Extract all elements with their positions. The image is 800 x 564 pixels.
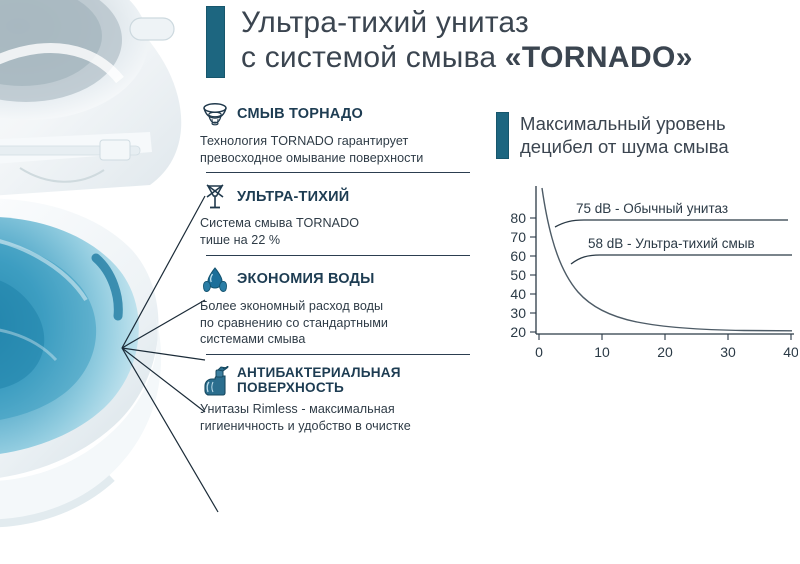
feature-body: Более экономный расход воды по сравнению… (200, 298, 468, 348)
y-tick-40: 40 (510, 286, 526, 302)
x-tick-10: 10 (594, 344, 610, 360)
feature-antibacterial[interactable]: АНТИБАКТЕРИАЛЬНАЯ ПОВЕРХНОСТЬ Унитазы Ri… (200, 355, 468, 441)
chart-heading-text: Максимальный уровень децибел от шума смы… (520, 112, 729, 159)
title-brand: «TORNADO» (505, 41, 693, 74)
y-tick-60: 60 (510, 248, 526, 264)
feature-tornado-flush[interactable]: СМЫВ ТОРНАДО Технология TORNADO гарантир… (200, 100, 468, 173)
feature-title: АНТИБАКТЕРИАЛЬНАЯ ПОВЕРХНОСТЬ (237, 366, 401, 395)
annotation-58db-label: 58 dB - Ультра-тихий смыв (588, 236, 755, 251)
chart-accent-bar (496, 112, 509, 159)
title-line-2-prefix: с системой смыва (241, 41, 505, 74)
y-tick-20: 20 (510, 324, 526, 340)
feature-water-saving[interactable]: ЭКОНОМИЯ ВОДЫ Более экономный расход вод… (200, 256, 468, 355)
spray-bottle-icon (200, 366, 230, 396)
feature-body: Унитазы Rimless - максимальная гигиеничн… (200, 401, 468, 434)
feature-title: ЭКОНОМИЯ ВОДЫ (237, 272, 374, 288)
title-line-1: Ультра-тихий унитаз (241, 6, 693, 41)
y-tick-50: 50 (510, 267, 526, 283)
y-tick-70: 70 (510, 229, 526, 245)
infographic-page: Ультра-тихий унитаз с системой смыва «TO… (0, 0, 800, 564)
tornado-flush-icon (200, 100, 230, 130)
feature-list: СМЫВ ТОРНАДО Технология TORNADO гарантир… (200, 100, 468, 442)
toilet-bowl-photo (0, 0, 230, 564)
feature-title: УЛЬТРА-ТИХИЙ (237, 190, 349, 206)
x-tick-20: 20 (657, 344, 673, 360)
x-tick-30: 30 (720, 344, 736, 360)
noise-decay-chart: 80 70 60 50 40 30 20 0 10 20 30 40 75 d (492, 182, 798, 368)
water-drop-hands-icon (200, 265, 230, 295)
page-title: Ультра-тихий унитаз с системой смыва «TO… (206, 6, 693, 78)
feature-ultra-quiet[interactable]: УЛЬТРА-ТИХИЙ Система смыва TORNADO тише … (200, 173, 468, 255)
feature-body: Система смыва TORNADO тише на 22 % (200, 215, 468, 248)
x-tick-40: 40 (783, 344, 798, 360)
y-tick-30: 30 (510, 305, 526, 321)
x-tick-0: 0 (535, 344, 543, 360)
title-accent-bar (206, 6, 225, 78)
title-line-2: с системой смыва «TORNADO» (241, 41, 693, 76)
annotation-75db-label: 75 dB - Обычный унитаз (576, 201, 728, 216)
feature-title: СМЫВ ТОРНАДО (237, 107, 363, 123)
annotation-58db: 58 dB - Ультра-тихий смыв (571, 236, 792, 264)
feature-body: Технология TORNADO гарантирует превосход… (200, 133, 468, 166)
mute-horn-icon (200, 182, 230, 212)
chart-panel-heading: Максимальный уровень децибел от шума смы… (496, 112, 729, 159)
y-tick-80: 80 (510, 210, 526, 226)
annotation-75db: 75 dB - Обычный унитаз (555, 201, 788, 227)
